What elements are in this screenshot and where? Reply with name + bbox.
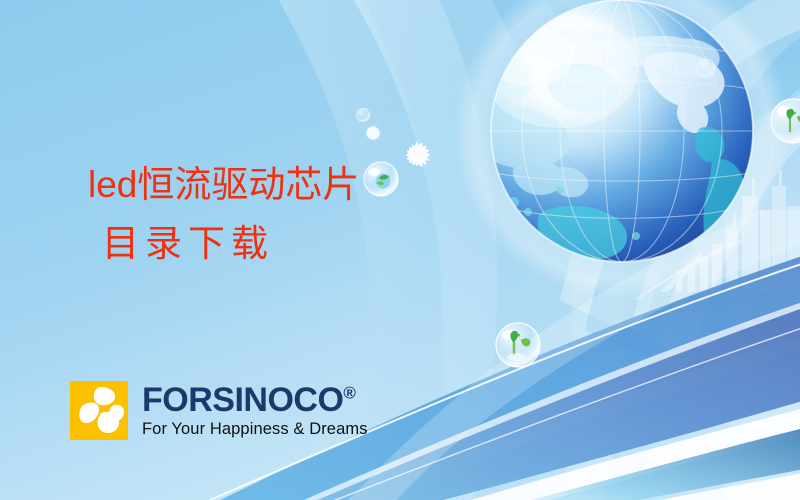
skyline-light-streak [636, 240, 742, 300]
brand-tagline: For Your Happiness & Dreams [142, 420, 368, 439]
headline-line-1: led恒流驱动芯片 [88, 166, 508, 205]
logo-text-block: FORSINOCO® For Your Happiness & Dreams [142, 381, 368, 439]
flower-accents [366, 126, 430, 168]
city-skyline [660, 170, 800, 292]
slide-canvas: led恒流驱动芯片 目录下载 FORSINOCO® For Your Happi… [0, 0, 800, 500]
four-petal-flower-logo-mark [70, 381, 128, 440]
company-logo: FORSINOCO® For Your Happiness & Dreams [70, 381, 368, 440]
brand-word: FORSINOCO [142, 381, 343, 419]
headline-text: led恒流驱动芯片 目录下载 [88, 166, 508, 264]
headline-line-2: 目录下载 [102, 225, 508, 264]
brand-name: FORSINOCO® [142, 383, 368, 417]
registered-trademark-icon: ® [343, 384, 356, 403]
